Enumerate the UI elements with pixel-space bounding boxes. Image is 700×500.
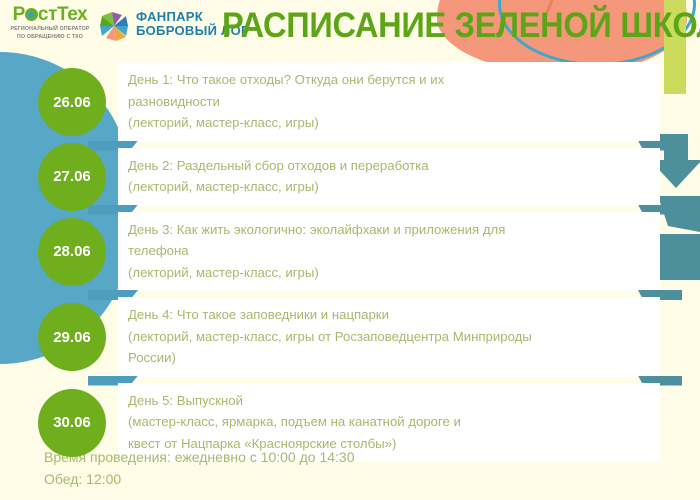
fanpark-pinwheel-icon xyxy=(96,8,132,44)
schedule-card-line: День 3: Как жить экологично: эколайфхаки… xyxy=(128,219,650,241)
footer-line-lunch: Обед: 12:00 xyxy=(44,468,544,490)
schedule-card-line: (лекторий, мастер-класс, игры) xyxy=(128,262,650,284)
schedule-card: День 3: Как жить экологично: эколайфхаки… xyxy=(118,212,660,292)
rostex-subtitle-line2: ПО ОБРАЩЕНИЮ С ТКО xyxy=(8,34,92,41)
schedule-card-line: России) xyxy=(128,347,650,369)
schedule-card-line: День 4: Что такое заповедники и нацпарки xyxy=(128,304,650,326)
schedule-card: День 4: Что такое заповедники и нацпарки… xyxy=(118,297,660,377)
schedule-card-line: разновидности xyxy=(128,91,650,113)
schedule-card-line: (лекторий, мастер-класс, игры) xyxy=(128,176,650,198)
footer-line-time: Время проведения: ежедневно с 10:00 до 1… xyxy=(44,446,544,468)
rostex-logo: РстТех РЕГИОНАЛЬНЫЙ ОПЕРАТОР ПО ОБРАЩЕНИ… xyxy=(8,5,92,41)
schedule-card-line: (мастер-класс, ярмарка, подъем на канатн… xyxy=(128,411,650,433)
schedule-list: День 1: Что такое отходы? Откуда они бер… xyxy=(0,62,700,468)
schedule-card-line: День 2: Раздельный сбор отходов и перера… xyxy=(128,155,650,177)
schedule-card-line: (лекторий, мастер-класс, игры) xyxy=(128,112,650,134)
rostex-wordmark: РстТех xyxy=(8,5,92,25)
schedule-row: День 2: Раздельный сбор отходов и перера… xyxy=(0,148,700,206)
rostex-name-before: Р xyxy=(13,4,25,25)
poster-canvas: РстТех РЕГИОНАЛЬНЫЙ ОПЕРАТОР ПО ОБРАЩЕНИ… xyxy=(0,0,700,500)
schedule-row: День 4: Что такое заповедники и нацпарки… xyxy=(0,297,700,377)
date-badge: 26.06 xyxy=(38,68,106,136)
schedule-card-line: телефона xyxy=(128,240,650,262)
rostex-name-after: стТех xyxy=(38,4,87,25)
poster-header: РстТех РЕГИОНАЛЬНЫЙ ОПЕРАТОР ПО ОБРАЩЕНИ… xyxy=(0,0,700,56)
fanpark-logo: ФАНПАРК БОБРОВЫЙ ЛОГ xyxy=(96,6,216,46)
date-badge: 28.06 xyxy=(38,218,106,286)
date-badge: 29.06 xyxy=(38,303,106,371)
footer-note: Время проведения: ежедневно с 10:00 до 1… xyxy=(44,446,544,490)
date-badge: 27.06 xyxy=(38,143,106,211)
date-badge: 30.06 xyxy=(38,389,106,457)
schedule-card-line: День 1: Что такое отходы? Откуда они бер… xyxy=(128,69,650,91)
schedule-row: День 3: Как жить экологично: эколайфхаки… xyxy=(0,212,700,292)
schedule-card: День 2: Раздельный сбор отходов и перера… xyxy=(118,148,660,206)
schedule-row: День 1: Что такое отходы? Откуда они бер… xyxy=(0,62,700,142)
schedule-card-line: (лекторий, мастер-класс, игры от Росзапо… xyxy=(128,326,650,348)
page-title: РАСПИСАНИЕ ЗЕЛЕНОЙ ШКОЛЫ xyxy=(222,6,657,46)
schedule-card-line: День 5: Выпускной xyxy=(128,390,650,412)
schedule-card: День 1: Что такое отходы? Откуда они бер… xyxy=(118,62,660,142)
rostex-subtitle-line1: РЕГИОНАЛЬНЫЙ ОПЕРАТОР xyxy=(8,26,92,33)
rostex-globe-icon xyxy=(25,8,38,21)
